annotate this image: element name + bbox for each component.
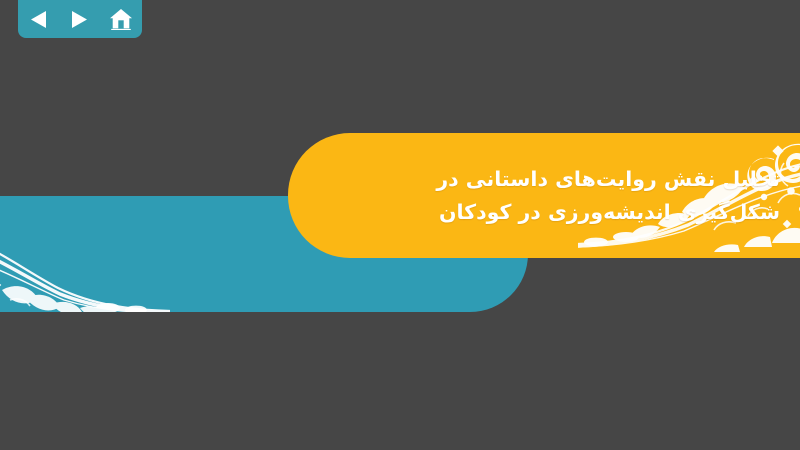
next-button[interactable] bbox=[67, 7, 93, 31]
triangle-left-icon bbox=[30, 10, 47, 29]
navigation-bar bbox=[18, 0, 142, 38]
slide-title: تحلیل نقش روایت‌های داستانی در شکل‌گیری … bbox=[318, 162, 780, 228]
home-button[interactable] bbox=[108, 7, 134, 31]
slide-canvas: تحلیل نقش روایت‌های داستانی در شکل‌گیری … bbox=[0, 0, 800, 450]
previous-button[interactable] bbox=[26, 7, 52, 31]
arabesque-ornament-accent bbox=[0, 196, 170, 312]
title-line-2: شکل‌گیری اندیشه‌ورزی در کودکان bbox=[318, 196, 780, 229]
title-panel: تحلیل نقش روایت‌های داستانی در شکل‌گیری … bbox=[288, 133, 800, 258]
home-icon bbox=[109, 8, 133, 30]
triangle-right-icon bbox=[71, 10, 88, 29]
title-line-1: تحلیل نقش روایت‌های داستانی در bbox=[318, 162, 780, 195]
